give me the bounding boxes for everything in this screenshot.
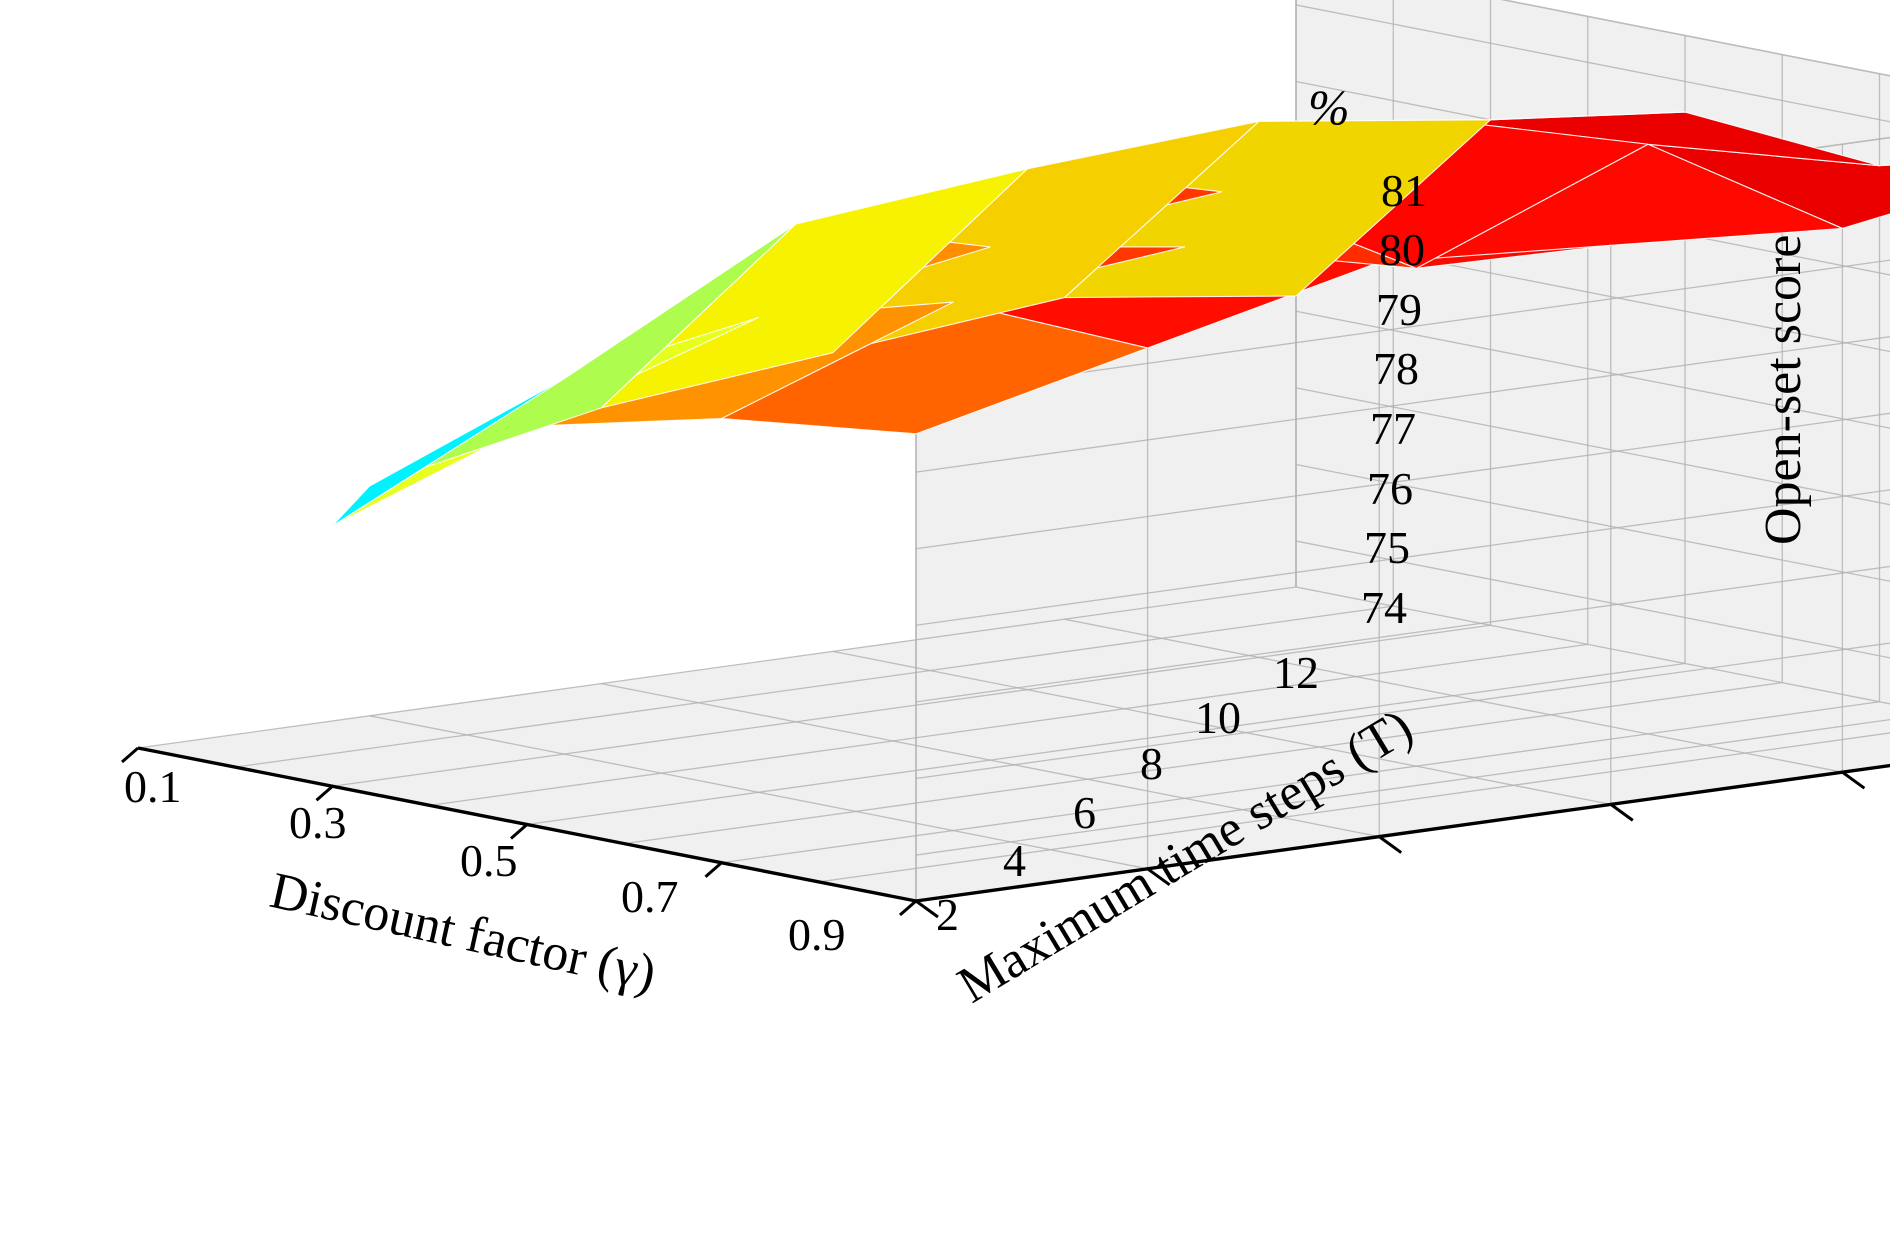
surface-plot-canvas [0,0,1890,1234]
x-tick-label-0-9: 0.9 [788,912,846,958]
y-tick-label-8: 8 [1140,741,1163,787]
z-tick-label-81: 81 [1381,168,1427,214]
z-axis-unit-label: % [1308,82,1350,132]
y-tick-mark [1842,772,1864,788]
z-tick-label-78: 78 [1373,346,1419,392]
x-tick-label-0-1: 0.1 [124,764,182,810]
x-tick-mark [122,748,138,762]
x-tick-mark [900,901,916,915]
z-tick-label-74: 74 [1361,585,1407,631]
z-axis-title: Open-set score [1758,235,1810,545]
z-tick-label-75: 75 [1364,525,1410,571]
figure-root: 81 80 79 78 77 76 75 74 % Open-set score… [0,0,1890,1234]
x-tick-label-0-3: 0.3 [289,800,347,846]
y-tick-label-10: 10 [1195,695,1241,741]
y-tick-mark [1379,837,1401,853]
z-tick-label-77: 77 [1370,406,1416,452]
y-tick-label-6: 6 [1073,790,1096,836]
y-tick-mark [916,901,938,917]
z-tick-label-76: 76 [1367,466,1413,512]
y-tick-label-12: 12 [1273,650,1319,696]
x-tick-mark [706,863,722,877]
z-tick-label-80: 80 [1379,227,1425,273]
z-tick-label-79: 79 [1376,287,1422,333]
x-tick-label-0-5: 0.5 [460,838,518,884]
x-tick-label-0-7: 0.7 [621,874,679,920]
y-tick-mark [1611,804,1633,820]
y-tick-label-2: 2 [936,892,959,938]
y-tick-label-4: 4 [1003,838,1026,884]
